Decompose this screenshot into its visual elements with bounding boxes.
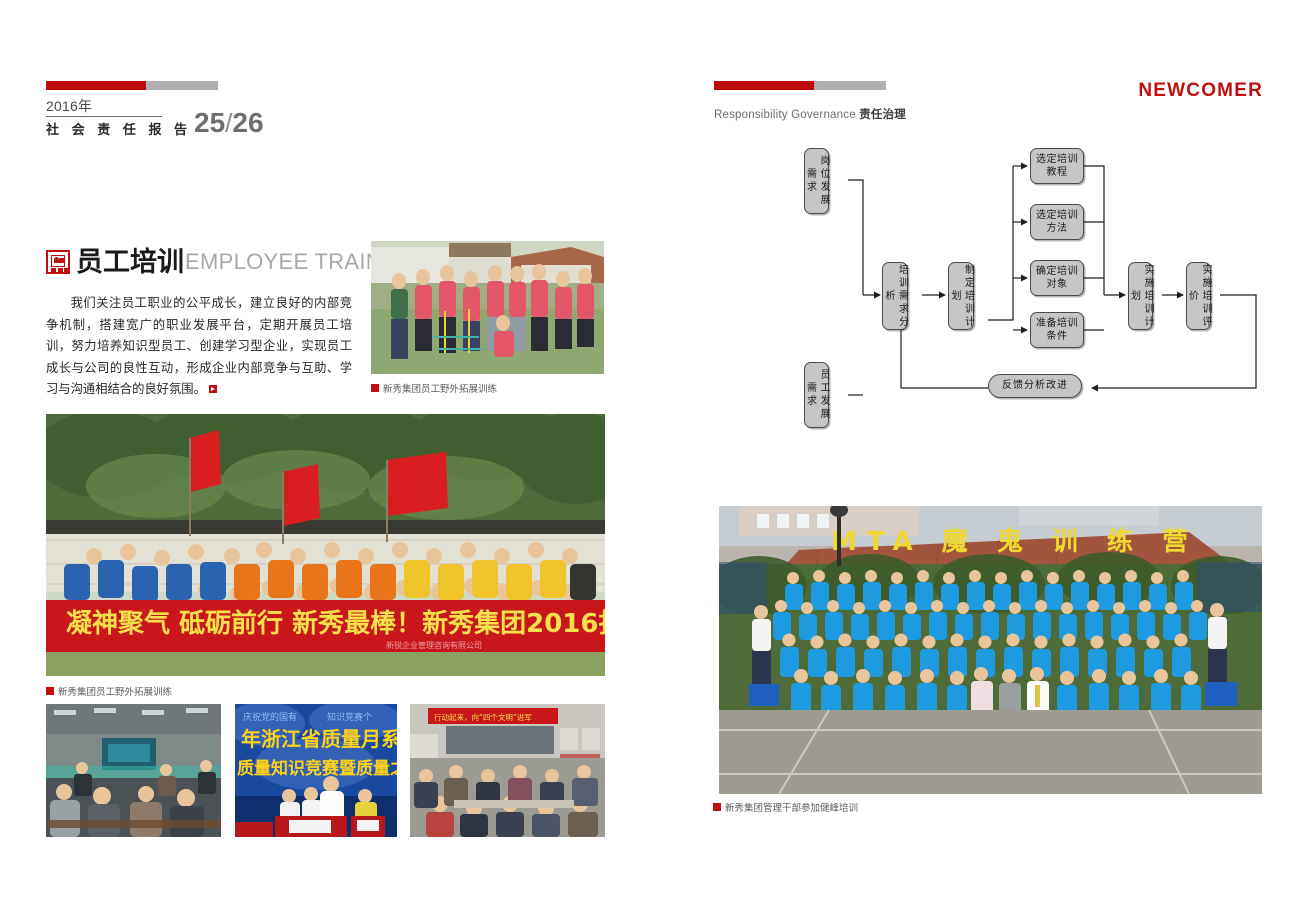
flow-node-select-method: 选定培训方法 xyxy=(1030,204,1084,240)
masthead-year: 2016年 xyxy=(46,98,192,116)
svg-text:庆祝党的国有: 庆祝党的国有 xyxy=(243,711,297,723)
flow-node-select-target: 确定培训对象 xyxy=(1030,260,1084,296)
svg-text:凝神聚气 砥砺前行 新秀最棒！新秀集团2016拓展培训: 凝神聚气 砥砺前行 新秀最棒！新秀集团2016拓展培训 xyxy=(66,608,605,639)
caption-text: 新秀集团员工野外拓展训练 xyxy=(383,381,497,395)
photo-mta-camp: MTA 魔 鬼 训 练 营 xyxy=(719,506,1262,794)
svg-text:行动起来，向“四个文明”进军: 行动起来，向“四个文明”进军 xyxy=(434,712,532,722)
header-rule-red xyxy=(714,81,814,90)
photo-group-banner: 凝神聚气 砥砺前行 新秀最棒！新秀集团2016拓展培训 新锐企业管理咨询有限公司 xyxy=(46,414,605,676)
photo-outdoor-training-small xyxy=(371,241,604,374)
section-title-cn: 员工培训 xyxy=(76,248,184,276)
photo-quality-quiz: 庆祝党的国有 知识竞赛个 年浙江省质量月系 质量知识竞赛暨质量之声 xyxy=(235,704,397,837)
breadcrumb: Responsibility Governance 责任治理 xyxy=(714,106,906,122)
page-total: 26 xyxy=(232,107,263,138)
flow-node-staff-demand: 员工发展需求 xyxy=(804,362,829,428)
section-body-text: 我们关注员工职业的公平成长，建立良好的内部竞争机制，搭建宽广的职业发展平台，定期… xyxy=(46,296,352,396)
caption-marker-icon xyxy=(371,384,379,392)
flow-node-implement-plan: 实施培训计划 xyxy=(1128,262,1153,330)
masthead: 2016年 社 会 责 任 报 告 25/26 xyxy=(46,98,192,140)
breadcrumb-en: Responsibility Governance xyxy=(714,109,856,121)
caption-mta-camp: 新秀集团管理干部参加健峰培训 xyxy=(713,800,858,814)
paragraph-end-marker-icon xyxy=(209,385,217,393)
flow-node-post-demand: 岗位发展需求 xyxy=(804,148,829,214)
brand-logo: NEWCOMER xyxy=(1138,80,1263,102)
left-page: 2016年 社 会 责 任 报 告 25/26 员工培训 EMPLOYEE TR… xyxy=(0,0,657,923)
caption-text: 新秀集团管理干部参加健峰培训 xyxy=(725,800,858,814)
training-board-icon xyxy=(46,250,70,274)
header-rule-grey xyxy=(146,81,218,90)
page-current: 25 xyxy=(194,107,225,138)
svg-text:新锐企业管理咨询有限公司: 新锐企业管理咨询有限公司 xyxy=(386,640,482,650)
flow-node-make-plan: 制定培训计划 xyxy=(948,262,974,330)
caption-text: 新秀集团员工野外拓展训练 xyxy=(58,684,172,698)
flow-node-implement-eval: 实施培训评价 xyxy=(1186,262,1211,330)
training-process-flowchart: 岗位发展需求 员工发展需求 培训需求分析 制定培训计划 选定培训教程 选定培训方… xyxy=(700,130,1300,420)
page-number: 25/26 xyxy=(194,107,264,139)
photo-canteen-training: 行动起来，向“四个文明”进军 xyxy=(410,704,605,837)
header-rule-red xyxy=(46,81,146,90)
caption-group-banner: 新秀集团员工野外拓展训练 xyxy=(46,684,172,698)
section-body-paragraph: 我们关注员工职业的公平成长，建立良好的内部竞争机制，搭建宽广的职业发展平台，定期… xyxy=(46,293,352,401)
svg-text:知识竞赛个: 知识竞赛个 xyxy=(327,711,372,723)
svg-text:质量知识竞赛暨质量之声: 质量知识竞赛暨质量之声 xyxy=(237,758,397,779)
caption-marker-icon xyxy=(46,687,54,695)
svg-text:年浙江省质量月系: 年浙江省质量月系 xyxy=(241,727,397,751)
breadcrumb-cn: 责任治理 xyxy=(859,109,906,121)
flow-node-feedback: 反馈分析改进 xyxy=(988,374,1082,398)
flow-node-need-analysis: 培训需求分析 xyxy=(882,262,908,330)
caption-marker-icon xyxy=(713,803,721,811)
flow-node-select-course: 选定培训教程 xyxy=(1030,148,1084,184)
photo-meeting-room xyxy=(46,704,221,837)
header-rule-grey xyxy=(814,81,886,90)
svg-text:MTA 魔 鬼 训 练 营: MTA 魔 鬼 训 练 营 xyxy=(831,526,1198,557)
left-header-rule xyxy=(46,81,218,90)
flow-node-prepare-condition: 准备培训条件 xyxy=(1030,312,1084,348)
masthead-subtitle: 社 会 责 任 报 告 xyxy=(46,117,192,140)
right-header-rule xyxy=(714,81,886,90)
right-page: Responsibility Governance 责任治理 NEWCOMER xyxy=(657,0,1315,923)
caption-outdoor-training-small: 新秀集团员工野外拓展训练 xyxy=(371,381,497,395)
section-title: 员工培训 EMPLOYEE TRAINING xyxy=(46,248,422,276)
